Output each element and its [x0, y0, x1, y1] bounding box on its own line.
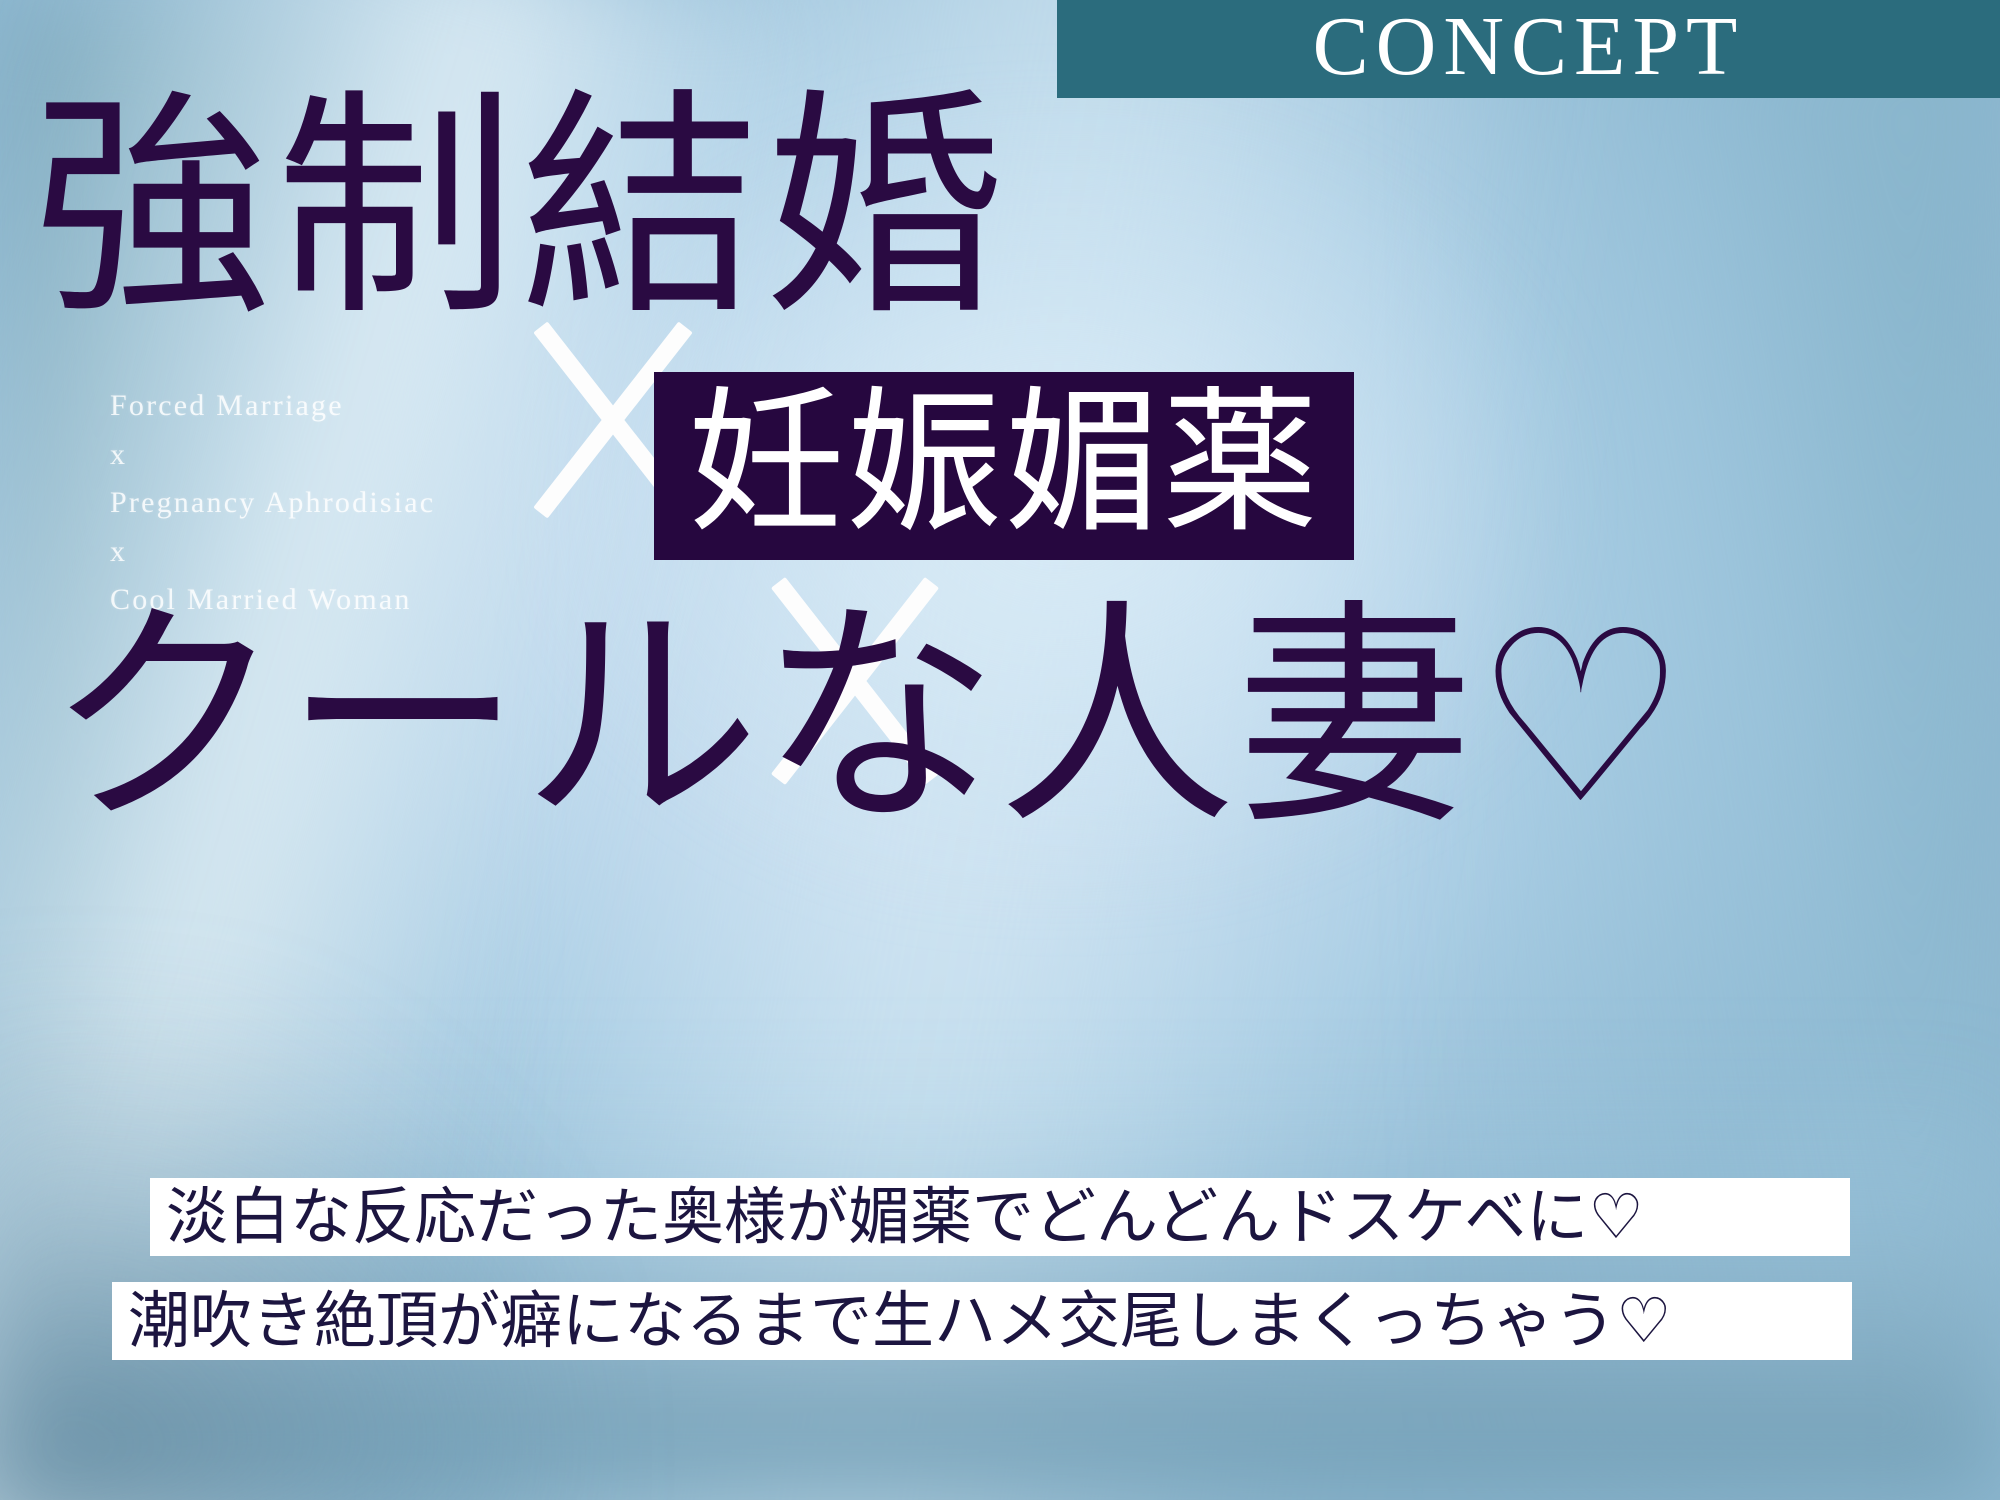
english-credit-line-2: x: [110, 431, 435, 480]
english-credit-line-1: Forced Marriage: [110, 382, 435, 431]
keyword-highlight-box: 妊娠媚薬: [654, 372, 1354, 560]
english-credit-line-4: x: [110, 528, 435, 577]
keyword-highlight-label: 妊娠媚薬: [688, 385, 1320, 547]
concept-badge: CONCEPT: [1057, 0, 2000, 98]
headline-line-2: クールな人妻♡: [46, 600, 1687, 838]
headline-line-1: 強制結婚: [32, 88, 1008, 328]
caption-text-1: 淡白な反応だった奥様が媚薬でどんどんドスケベに♡: [166, 1186, 1644, 1248]
english-credit-line-3: Pregnancy Aphrodisiac: [110, 479, 435, 528]
caption-bar-1: 淡白な反応だった奥様が媚薬でどんどんドスケベに♡: [150, 1178, 1850, 1256]
concept-badge-label: CONCEPT: [1313, 5, 1745, 93]
poster-canvas: CONCEPT 強制結婚 Forced Marriage x Pregnancy…: [0, 0, 2000, 1500]
caption-text-2: 潮吹き絶頂が癖になるまで生ハメ交尾しまくっちゃう♡: [128, 1290, 1672, 1352]
caption-bar-2: 潮吹き絶頂が癖になるまで生ハメ交尾しまくっちゃう♡: [112, 1282, 1852, 1360]
